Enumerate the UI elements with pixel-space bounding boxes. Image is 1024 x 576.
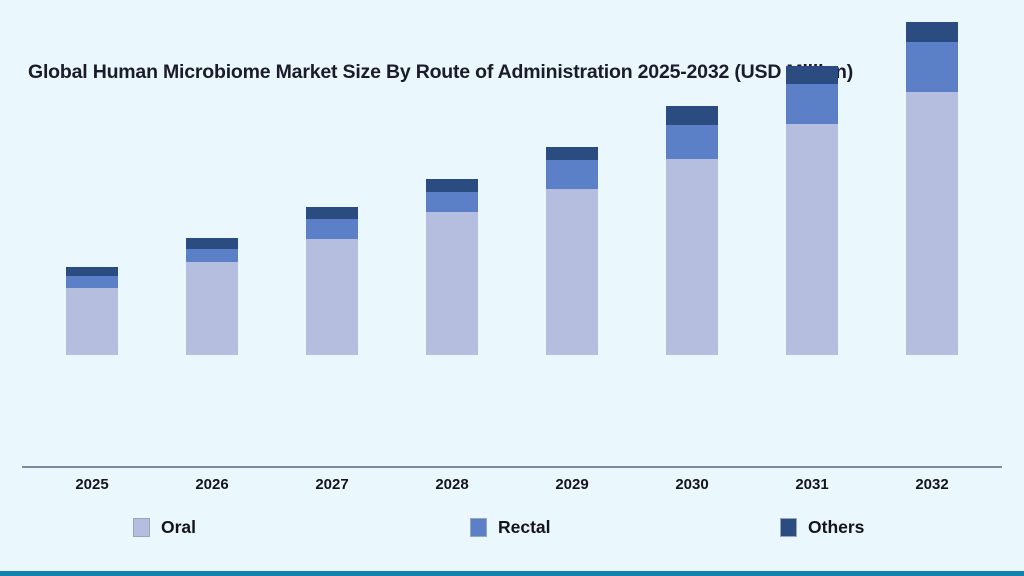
legend-swatch-rectal-icon [470, 518, 487, 537]
bar-segment-rectal-2025 [66, 276, 118, 288]
bar-segment-rectal-2031 [786, 84, 838, 124]
bar-2026 [186, 238, 238, 355]
bar-segment-oral-2030 [666, 159, 718, 355]
bar-segment-others-2030 [666, 106, 718, 125]
bar-segment-others-2027 [306, 207, 358, 219]
bar-segment-rectal-2030 [666, 125, 718, 159]
bar-segment-oral-2027 [306, 239, 358, 355]
chart-figure: Global Human Microbiome Market Size By R… [0, 0, 1024, 576]
x-tick-2029: 2029 [546, 476, 598, 493]
bar-2025 [66, 267, 118, 355]
bar-segment-others-2028 [426, 179, 478, 192]
bar-segment-others-2031 [786, 66, 838, 84]
bar-segment-others-2026 [186, 238, 238, 249]
legend-swatch-oral-icon [133, 518, 150, 537]
bar-segment-oral-2031 [786, 124, 838, 355]
legend-swatch-others-icon [780, 518, 797, 537]
bar-segment-rectal-2029 [546, 160, 598, 189]
bar-segment-oral-2025 [66, 288, 118, 355]
bar-segment-oral-2029 [546, 189, 598, 355]
bar-2027 [306, 207, 358, 355]
legend-label-oral: Oral [161, 517, 196, 538]
bar-segment-oral-2032 [906, 92, 958, 355]
bar-segment-rectal-2032 [906, 42, 958, 92]
legend-item-oral[interactable]: Oral [133, 517, 196, 538]
bar-segment-oral-2028 [426, 212, 478, 355]
x-axis-line [22, 466, 1002, 468]
x-tick-2027: 2027 [306, 476, 358, 493]
legend-label-others: Others [808, 517, 864, 538]
bar-2028 [426, 179, 478, 355]
x-tick-2028: 2028 [426, 476, 478, 493]
legend-item-others[interactable]: Others [780, 517, 864, 538]
legend-label-rectal: Rectal [498, 517, 551, 538]
bar-2029 [546, 147, 598, 355]
x-tick-2026: 2026 [186, 476, 238, 493]
bar-segment-rectal-2027 [306, 219, 358, 239]
bar-segment-oral-2026 [186, 262, 238, 355]
bar-segment-rectal-2026 [186, 249, 238, 262]
x-tick-2030: 2030 [666, 476, 718, 493]
x-tick-2031: 2031 [786, 476, 838, 493]
bar-segment-others-2032 [906, 22, 958, 42]
bar-2031 [786, 66, 838, 355]
bar-segment-others-2029 [546, 147, 598, 160]
bar-2030 [666, 106, 718, 355]
x-tick-2025: 2025 [66, 476, 118, 493]
bar-segment-others-2025 [66, 267, 118, 276]
chart-legend: OralRectalOthers [0, 517, 1024, 551]
bar-2032 [906, 22, 958, 355]
legend-item-rectal[interactable]: Rectal [470, 517, 551, 538]
bar-segment-rectal-2028 [426, 192, 478, 212]
plot-area: 20252026202720282029203020312032 [0, 5, 1024, 470]
x-tick-2032: 2032 [906, 476, 958, 493]
